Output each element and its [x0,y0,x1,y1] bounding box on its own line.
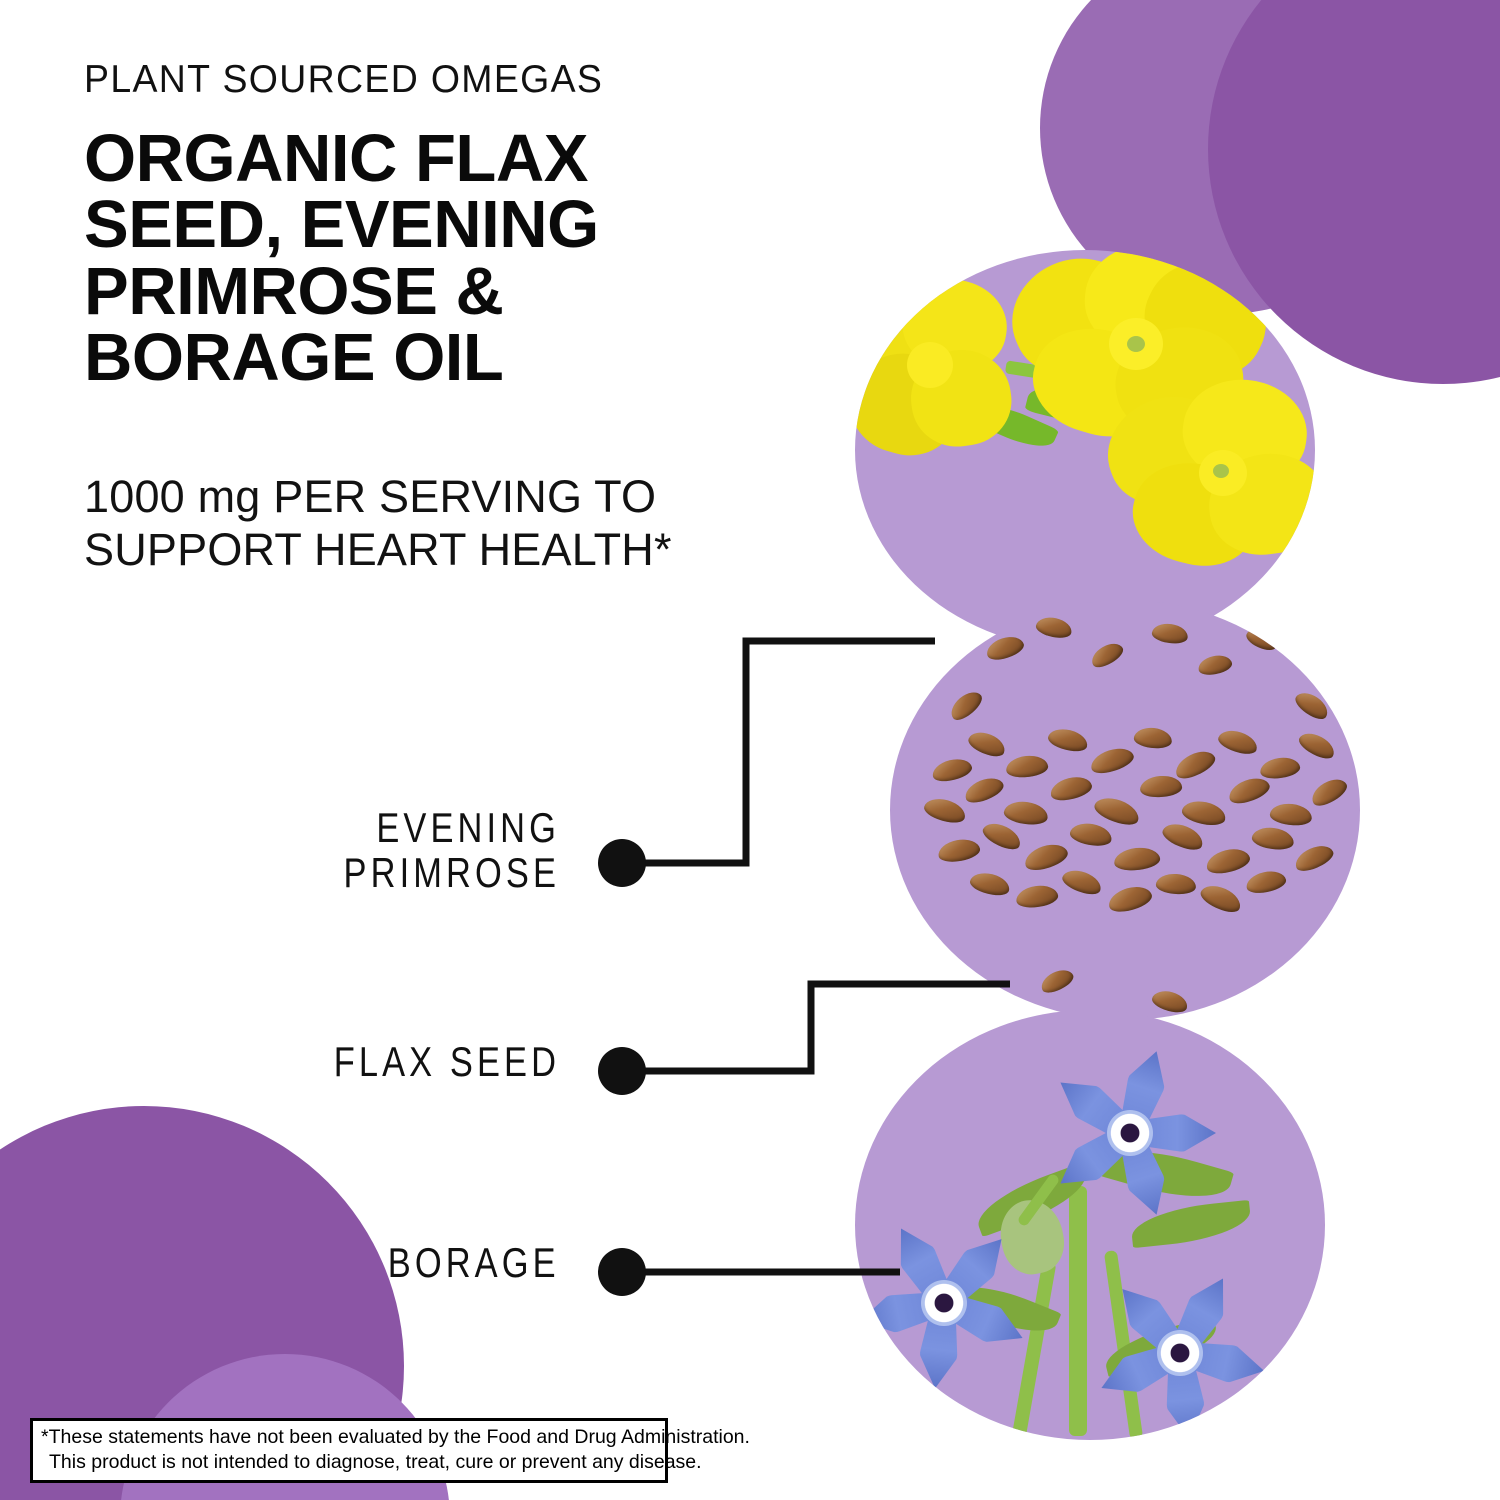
connector-dot-flax-seed [598,1047,646,1095]
callout-label-line-2: PRIMROSE [343,851,560,896]
disclaimer-line-2: This product is not intended to diagnose… [41,1450,657,1475]
seed-pile [924,708,1344,928]
subheadline: 1000 mg PER SERVING TO SUPPORT HEART HEA… [84,470,764,576]
flower-shape [1085,1258,1275,1440]
flower-shape [855,1208,1039,1398]
eyebrow-text: PLANT SOURCED OMEGAS [84,58,603,102]
connector-dot-evening-primrose [598,839,646,887]
fda-disclaimer: *These statements have not been evaluate… [30,1418,668,1483]
page-title: ORGANIC FLAX SEED, EVENING PRIMROSE & BO… [84,126,724,391]
connector-dot-borage [598,1248,646,1296]
callout-label-evening-primrose: EVENING PRIMROSE [343,806,560,895]
callout-label-flax-seed: FLAX SEED [334,1040,560,1085]
headline-line-3: PRIMROSE & [84,259,724,325]
connector-line-evening-primrose [622,641,935,863]
callout-label-line-1: EVENING [343,806,560,851]
disclaimer-line-1: *These statements have not been evaluate… [41,1425,657,1450]
headline-line-1: ORGANIC FLAX [84,126,724,192]
callout-label-borage: BORAGE [388,1241,560,1286]
ingredient-photo-borage [855,1010,1325,1440]
ingredient-photo-evening-primrose [855,250,1315,650]
ingredient-photo-flax-seed [890,600,1360,1020]
subheadline-line-2: SUPPORT HEART HEALTH* [84,523,764,576]
callout-label-line-1: BORAGE [388,1241,560,1286]
headline-line-2: SEED, EVENING [84,192,724,258]
flower-shape [1107,376,1315,576]
infographic-canvas: PLANT SOURCED OMEGAS ORGANIC FLAX SEED, … [0,0,1500,1500]
flower-shape [1035,1038,1225,1228]
headline-line-4: BORAGE OIL [84,325,724,391]
subheadline-line-1: 1000 mg PER SERVING TO [84,470,764,523]
callout-label-line-1: FLAX SEED [334,1040,560,1085]
